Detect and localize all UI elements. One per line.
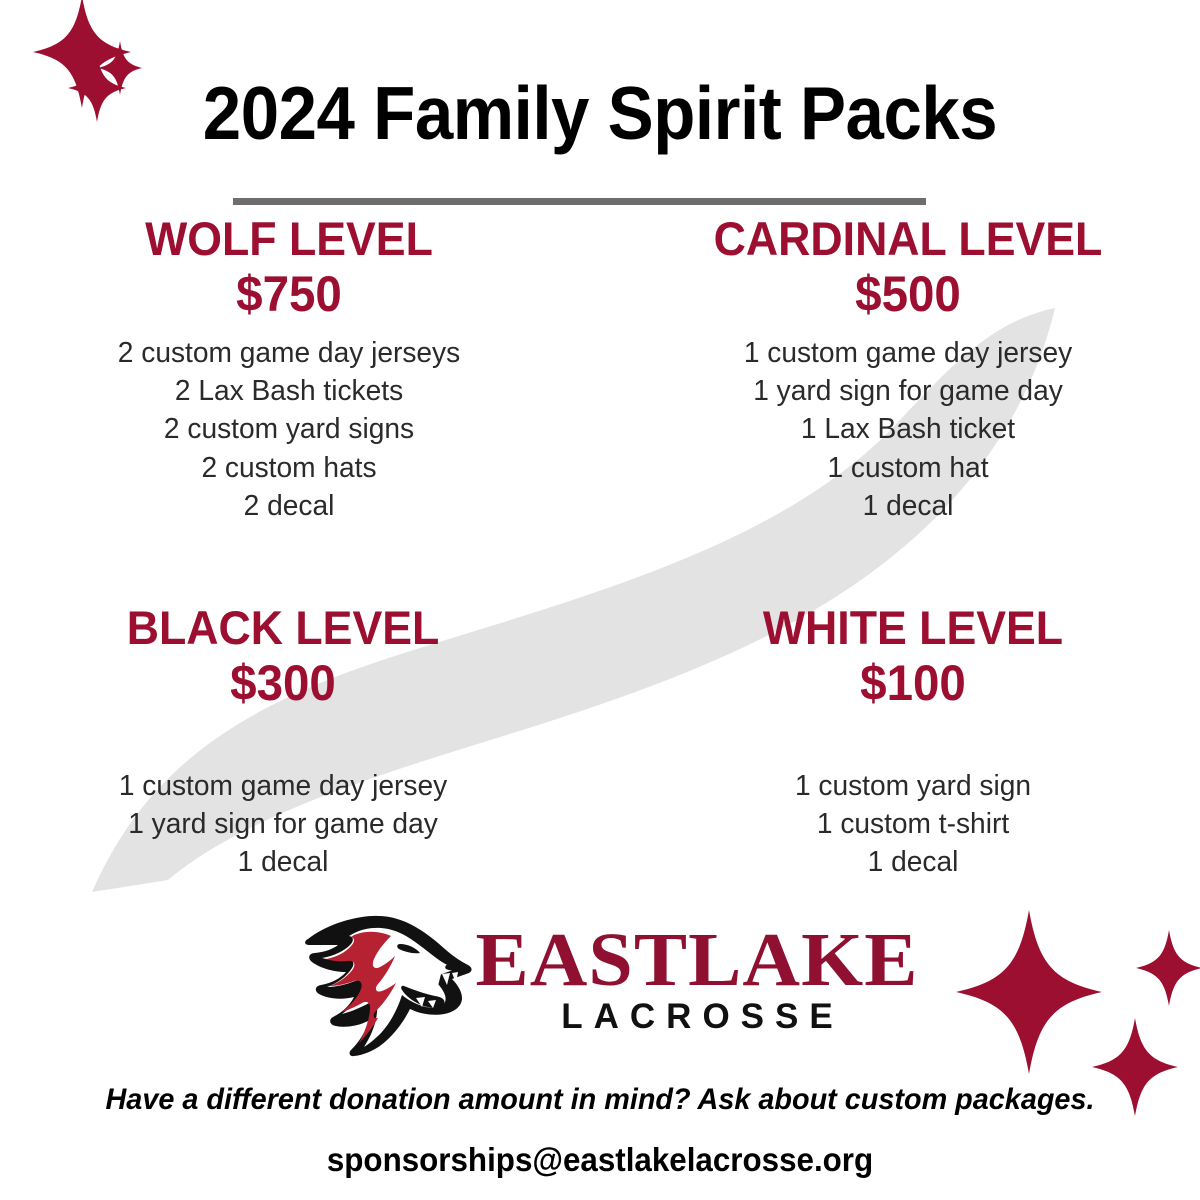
- tier-benefit: 1 yard sign for game day: [8, 805, 557, 843]
- tier-benefit: 1 custom game day jersey: [625, 334, 1191, 372]
- tier-price: $300: [14, 656, 552, 711]
- title-divider: [233, 198, 926, 205]
- tier-benefit: 1 Lax Bash ticket: [625, 410, 1191, 448]
- logo-secondary-word: LACROSSE: [550, 999, 843, 1034]
- contact-email: sponsorships@eastlakelacrosse.org: [30, 1140, 1170, 1180]
- tier-name: WOLF LEVEL: [14, 214, 563, 265]
- tier-name: WHITE LEVEL: [640, 603, 1185, 654]
- custom-package-note: Have a different donation amount in mind…: [24, 1082, 1176, 1118]
- tier-benefit-list: 2 custom game day jerseys 2 Lax Bash tic…: [0, 334, 578, 525]
- eastlake-lacrosse-logo: EASTLAKE LACROSSE: [0, 902, 1200, 1058]
- tier-name: CARDINAL LEVEL: [631, 214, 1186, 265]
- tier-benefit: 1 decal: [8, 843, 557, 881]
- page-title: 2024 Family Spirit Packs: [48, 76, 1152, 151]
- logo-wordmark: EASTLAKE LACROSSE: [486, 926, 908, 1035]
- tier-name: BLACK LEVEL: [14, 603, 552, 654]
- tier-row-top: WOLF LEVEL $750 2 custom game day jersey…: [0, 214, 1200, 525]
- tier-benefit: 1 custom t-shirt: [635, 805, 1192, 843]
- wolf-head-icon: [292, 902, 478, 1058]
- tier-grid: WOLF LEVEL $750 2 custom game day jersey…: [0, 214, 1200, 882]
- tier-card-black: BLACK LEVEL $300 1 custom game day jerse…: [0, 603, 600, 882]
- tier-price: $750: [14, 267, 563, 322]
- tier-benefit: 2 custom yard signs: [9, 410, 570, 448]
- tier-benefit-list: 1 custom game day jersey 1 yard sign for…: [0, 767, 566, 882]
- tier-benefit: 1 decal: [625, 487, 1191, 525]
- tier-benefit: 1 custom game day jersey: [8, 767, 557, 805]
- tier-benefit-list: 1 custom game day jersey 1 yard sign for…: [616, 334, 1200, 525]
- spirit-pack-flyer: 2024 Family Spirit Packs WOLF LEVEL $750…: [0, 0, 1200, 1200]
- tier-card-wolf: WOLF LEVEL $750 2 custom game day jersey…: [0, 214, 600, 525]
- tier-card-cardinal: CARDINAL LEVEL $500 1 custom game day je…: [600, 214, 1200, 525]
- tier-price: $100: [640, 656, 1185, 711]
- tier-card-white: WHITE LEVEL $100 1 custom yard sign 1 cu…: [600, 603, 1200, 882]
- tier-price: $500: [631, 267, 1186, 322]
- tier-benefit: 2 custom game day jerseys: [9, 334, 570, 372]
- footer: Have a different donation amount in mind…: [0, 1082, 1200, 1180]
- tier-benefit-list: 1 custom yard sign 1 custom t-shirt 1 de…: [626, 767, 1200, 882]
- tier-row-bottom: BLACK LEVEL $300 1 custom game day jerse…: [0, 603, 1200, 882]
- tier-benefit: 2 decal: [9, 487, 570, 525]
- tier-benefit: 2 custom hats: [9, 449, 570, 487]
- tier-benefit: 1 yard sign for game day: [625, 372, 1191, 410]
- tier-benefit: 1 custom hat: [625, 449, 1191, 487]
- tier-benefit: 2 Lax Bash tickets: [9, 372, 570, 410]
- tier-benefit: 1 custom yard sign: [635, 767, 1192, 805]
- logo-primary-word: EASTLAKE: [475, 926, 918, 996]
- tier-benefit: 1 decal: [635, 843, 1192, 881]
